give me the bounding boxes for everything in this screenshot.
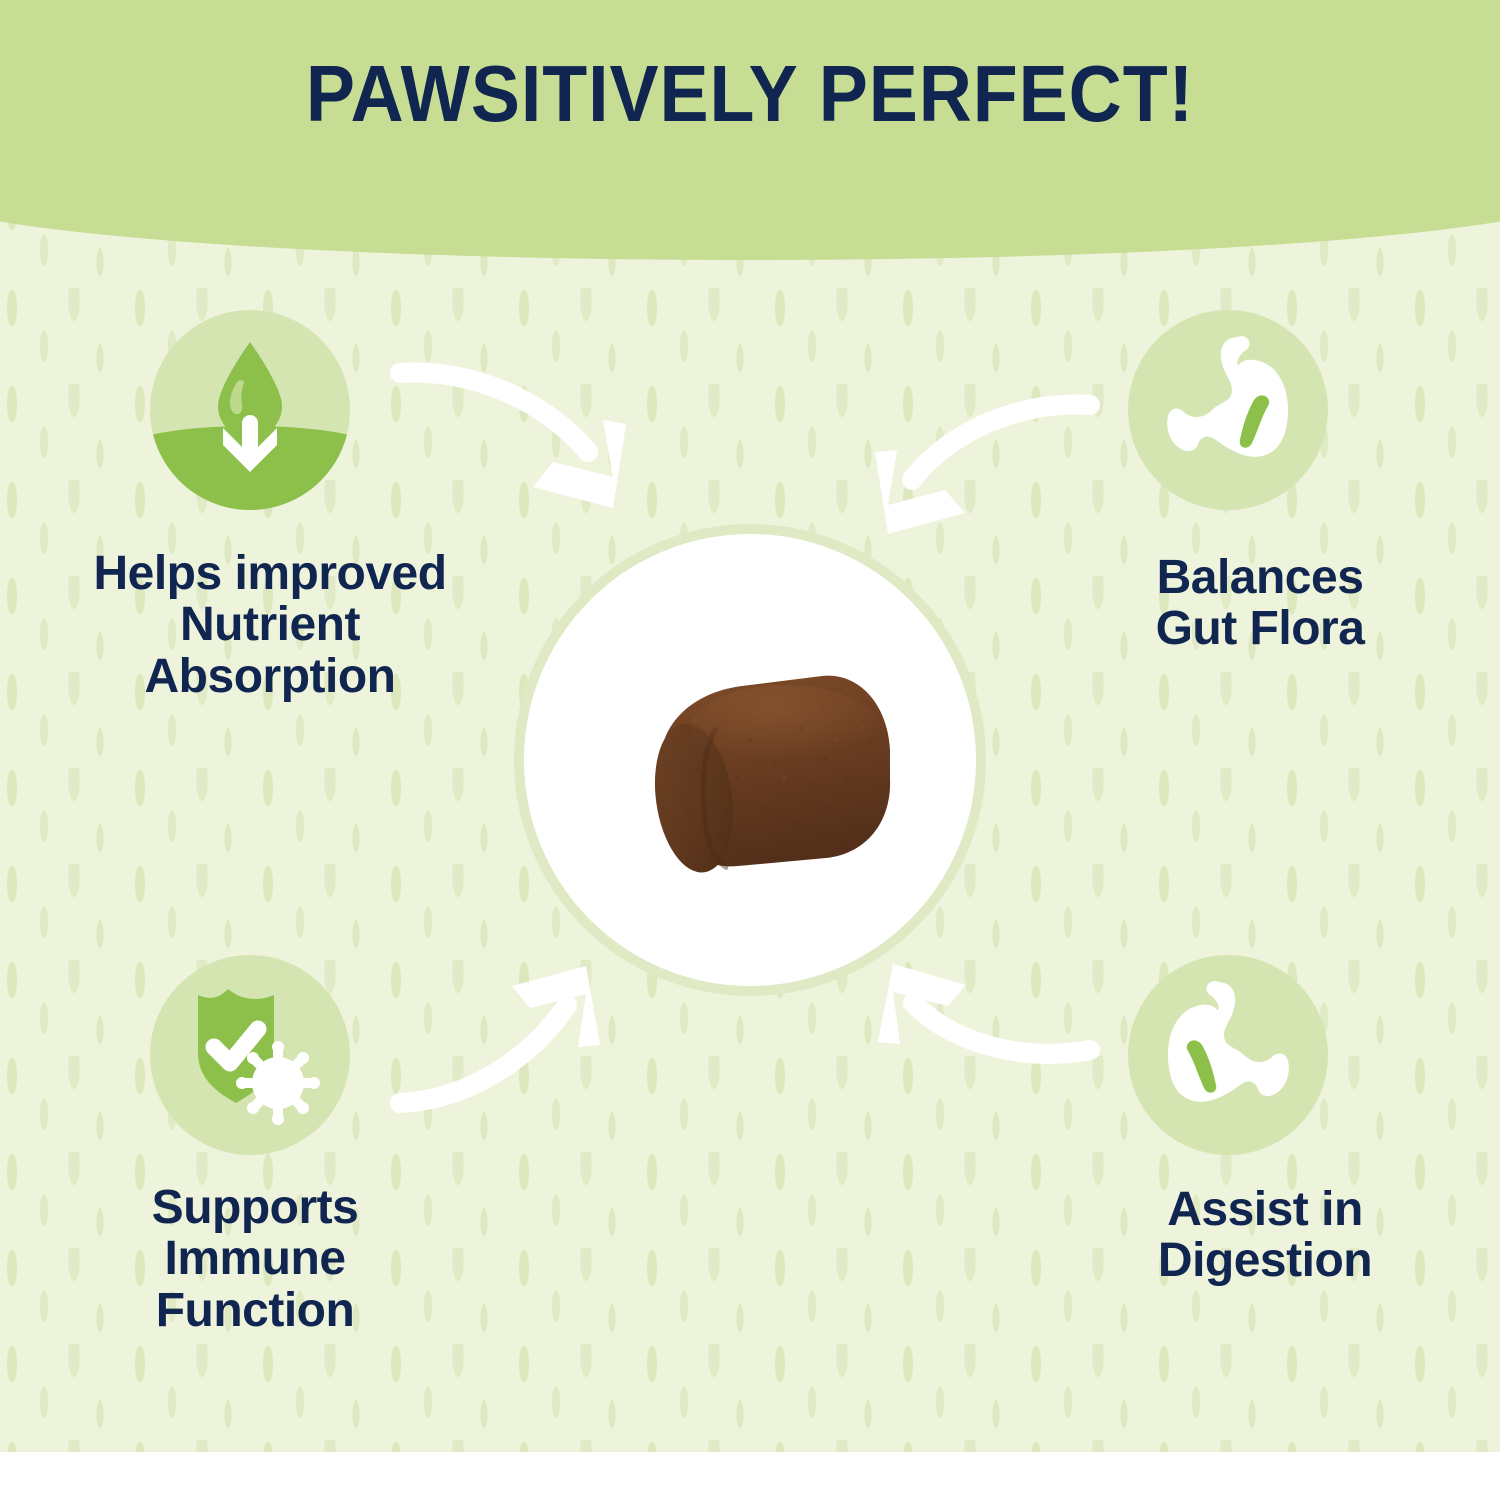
feature-label-line: Function	[20, 1285, 490, 1336]
center-product-disc	[538, 548, 962, 972]
droplet-absorption-icon	[150, 310, 350, 510]
feature-label-nutrient-absorption: Helps improved Nutrient Absorption	[10, 548, 530, 702]
feature-label-line: Nutrient	[10, 599, 530, 650]
arrow-bottom-left-to-center	[400, 966, 600, 1103]
stomach-mirrored-icon	[1128, 955, 1328, 1155]
feature-label-line: Supports	[20, 1182, 490, 1233]
feature-label-gut-flora: Balances Gut Flora	[1035, 552, 1485, 655]
stomach-icon	[1128, 310, 1328, 510]
feature-label-immune-function: Supports Immune Function	[20, 1182, 490, 1336]
feature-label-line: Gut Flora	[1035, 603, 1485, 654]
product-treat-image	[570, 610, 930, 910]
infographic-canvas: PAWSITIVELY PERFECT!	[0, 0, 1500, 1500]
feature-label-line: Helps improved	[10, 548, 530, 599]
feature-icon-circle-nutrient-absorption	[150, 310, 350, 510]
feature-label-line: Digestion	[1045, 1235, 1485, 1286]
shield-check-virus-icon	[150, 955, 350, 1155]
feature-label-line: Balances	[1035, 552, 1485, 603]
feature-label-digestion: Assist in Digestion	[1045, 1184, 1485, 1287]
feature-icon-circle-immune-function	[150, 955, 350, 1155]
bottom-white-strip	[0, 1452, 1500, 1500]
feature-icon-circle-gut-flora	[1128, 310, 1328, 510]
feature-label-line: Absorption	[10, 651, 530, 702]
feature-label-line: Assist in	[1045, 1184, 1485, 1235]
feature-icon-circle-digestion	[1128, 955, 1328, 1155]
arrow-top-left-to-center	[400, 372, 626, 508]
feature-label-line: Immune	[20, 1233, 490, 1284]
arrow-bottom-right-to-center	[878, 964, 1090, 1054]
arrow-top-right-to-center	[875, 404, 1090, 534]
